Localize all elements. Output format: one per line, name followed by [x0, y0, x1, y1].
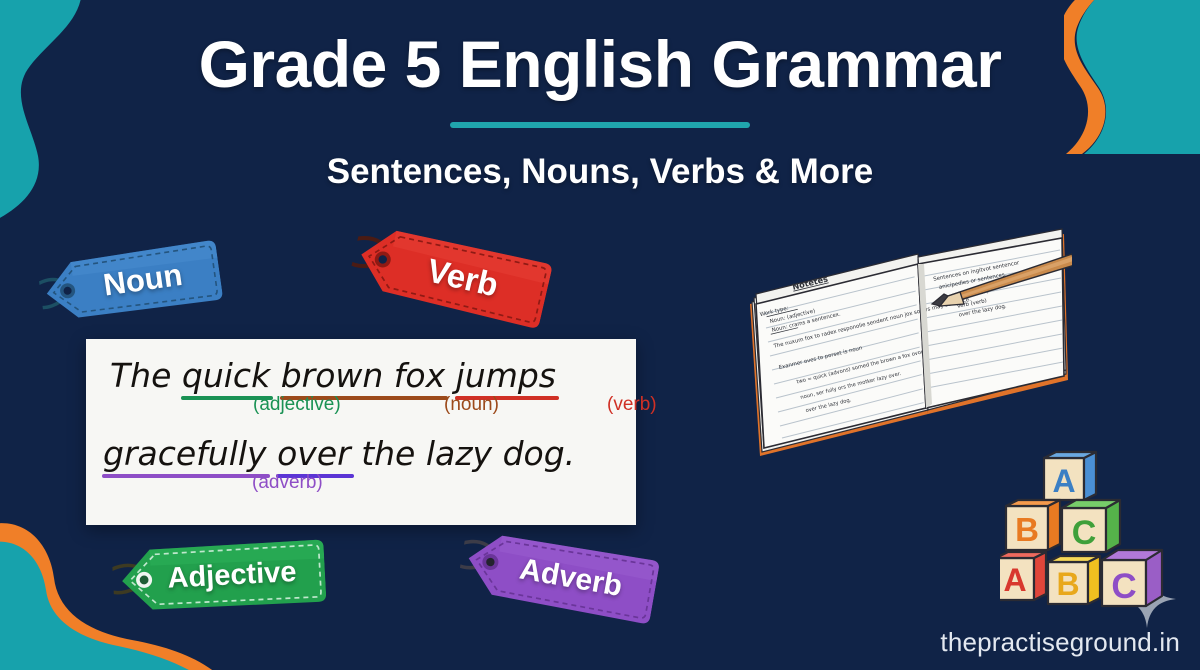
- poster-canvas: Grade 5 English Grammar Sentences, Nouns…: [0, 0, 1200, 670]
- word-gracefully: gracefully: [103, 434, 267, 473]
- tag-adverb[interactable]: Adverb: [455, 522, 661, 631]
- page-title: Grade 5 English Grammar: [0, 30, 1200, 100]
- annotation-verb: (verb): [607, 394, 657, 416]
- annotation-noun: (noun): [444, 394, 499, 416]
- open-notebook-illustration: Notetes Work type: Noun: (adjective) Nou…: [742, 228, 1072, 466]
- block-b-bottom: B: [1048, 556, 1100, 604]
- tag-verb[interactable]: Verb: [346, 215, 555, 335]
- word-jumps: jumps: [456, 356, 556, 395]
- block-b-middle: B: [1006, 500, 1060, 550]
- sentence-example-card: The quick brown fox jumps gracefully ove…: [86, 339, 636, 525]
- abc-blocks-illustration: A B C A: [1000, 450, 1172, 625]
- tag-adjective[interactable]: Adjective: [111, 535, 326, 618]
- block-c-bottom: C: [1102, 550, 1162, 606]
- sentence-line-1: The quick brown fox jumps: [110, 356, 556, 395]
- tag-noun[interactable]: Noun: [36, 234, 224, 330]
- word-quick: quick: [182, 356, 270, 395]
- svg-text:A: A: [1003, 562, 1026, 598]
- word-the-lazy-dog: the lazy dog.: [361, 434, 575, 473]
- svg-text:B: B: [1015, 511, 1039, 548]
- block-a-top: A: [1044, 452, 1096, 500]
- block-c-middle: C: [1062, 500, 1120, 552]
- title-divider: [450, 122, 750, 128]
- annotation-adverb: (adverb): [252, 472, 323, 494]
- word-the-1: The: [110, 356, 171, 395]
- annotation-adjective: (adjective): [253, 394, 341, 416]
- svg-text:B: B: [1056, 566, 1079, 602]
- page-subtitle: Sentences, Nouns, Verbs & More: [0, 152, 1200, 192]
- word-over: over: [277, 434, 351, 473]
- sentence-line-2: gracefully over the lazy dog.: [103, 434, 575, 473]
- watermark: thepractiseground.in: [940, 627, 1180, 658]
- svg-text:C: C: [1072, 514, 1097, 552]
- word-brown-fox: brown fox: [281, 356, 445, 395]
- header: Grade 5 English Grammar Sentences, Nouns…: [0, 30, 1200, 192]
- svg-text:A: A: [1052, 463, 1075, 499]
- svg-text:C: C: [1111, 567, 1136, 606]
- block-a-bottom: A: [1000, 552, 1046, 600]
